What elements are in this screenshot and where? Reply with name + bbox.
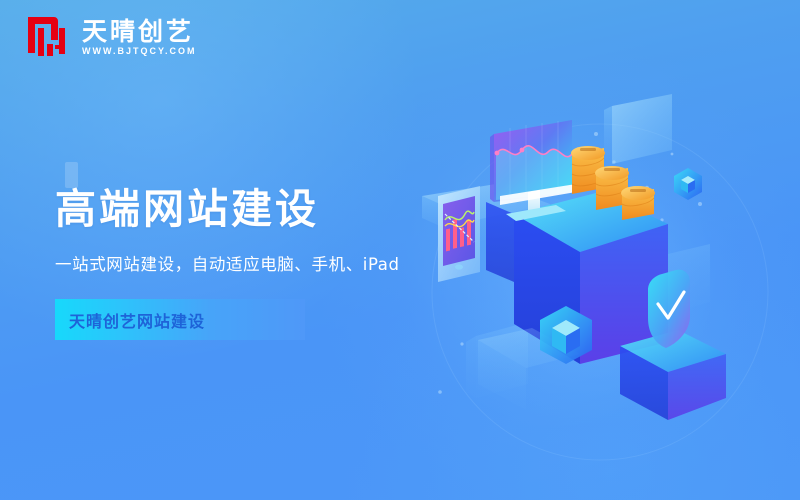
logo-text-group: 天晴创艺 WWW.BJTQCY.COM	[82, 19, 197, 56]
logo-brand-name: 天晴创艺	[82, 19, 197, 44]
hero-banner: 天晴创艺 WWW.BJTQCY.COM 高端网站建设 一站式网站建设，自动适应电…	[0, 0, 800, 500]
cta-button[interactable]: 天晴创艺网站建设	[55, 299, 305, 340]
site-logo[interactable]: 天晴创艺 WWW.BJTQCY.COM	[26, 14, 197, 60]
logo-website-url: WWW.BJTQCY.COM	[82, 47, 197, 56]
logo-mark-icon	[26, 14, 70, 60]
smartphone-with-bar-chart	[438, 186, 480, 282]
hero-illustration	[400, 92, 800, 492]
